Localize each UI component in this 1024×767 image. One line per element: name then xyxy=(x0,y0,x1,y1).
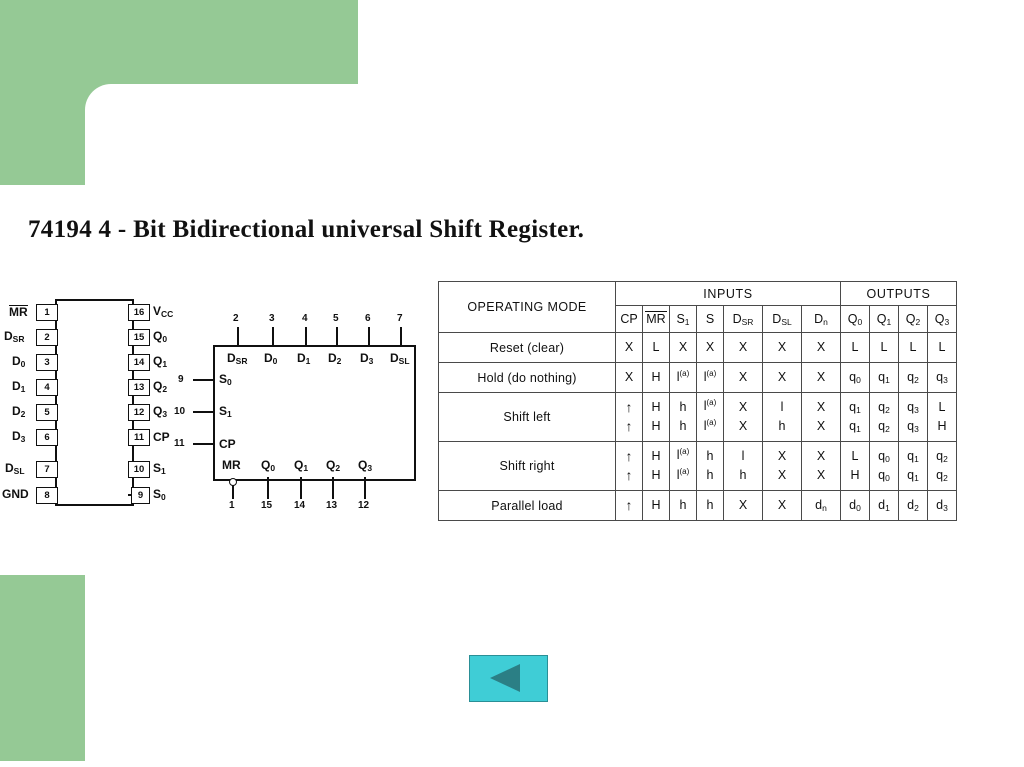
column-header-q2: Q2 xyxy=(899,306,928,333)
cell-input-dn: X xyxy=(802,333,841,363)
cell-input-mr: H xyxy=(643,363,670,393)
dip-pin-label-6: D3 xyxy=(12,430,25,444)
column-header-q0: Q0 xyxy=(841,306,870,333)
dip-pin-number-7: 7 xyxy=(36,461,58,478)
cell-input-dn: XX xyxy=(802,442,841,491)
cell-input-s: X xyxy=(697,333,724,363)
column-header-q1: Q1 xyxy=(870,306,899,333)
dip-pin-number-10: 10 xyxy=(128,461,150,478)
cell-input-mr: H xyxy=(643,491,670,521)
cell-operating-mode: Hold (do nothing) xyxy=(439,363,616,393)
sym-pin-number-4: 4 xyxy=(302,313,308,324)
cell-input-cp: ↑↑ xyxy=(616,393,643,442)
dip-pin-label-13: Q2 xyxy=(153,380,167,394)
cell-output-q2: q1q1 xyxy=(899,442,928,491)
dip-pin-number-8: 8 xyxy=(36,487,58,504)
sym-lead-11 xyxy=(193,443,214,445)
sym-pin-label-s1: S1 xyxy=(219,405,232,419)
sym-pin-label-d2: D2 xyxy=(328,352,341,366)
dip-pin-number-14: 14 xyxy=(128,354,150,371)
sym-pin-label-mr: MR xyxy=(222,459,241,471)
cell-output-q3: LH xyxy=(928,393,957,442)
cell-input-s: l(a)l(a) xyxy=(697,393,724,442)
cell-output-q2: q2 xyxy=(899,363,928,393)
sym-lead-13 xyxy=(332,477,334,499)
dip-pin-number-2: 2 xyxy=(36,329,58,346)
dip-pin-number-9: 9 xyxy=(131,487,150,504)
sym-pin-number-11: 11 xyxy=(174,438,185,449)
dip-pin-number-11: 11 xyxy=(128,429,150,446)
group-header-outputs: OUTPUTS xyxy=(841,282,957,306)
sym-lead-14 xyxy=(300,477,302,499)
cell-input-dsr: X xyxy=(724,363,763,393)
cell-input-s1: X xyxy=(670,333,697,363)
dip-pin-label-10: S1 xyxy=(153,462,166,476)
cell-input-dsl: lh xyxy=(763,393,802,442)
dip-pin-label-9: S0 xyxy=(153,488,166,502)
sym-pin-label-q3: Q3 xyxy=(358,459,372,473)
decor-green-rounded-corner xyxy=(85,84,111,110)
cell-input-s1: l(a)l(a) xyxy=(670,442,697,491)
dip-pin-number-12: 12 xyxy=(128,404,150,421)
cell-output-q0: q1q1 xyxy=(841,393,870,442)
cell-input-mr: HH xyxy=(643,442,670,491)
sym-lead-1 xyxy=(232,485,234,499)
table-header: OPERATING MODE INPUTS OUTPUTS CP MR S1 S… xyxy=(439,282,957,333)
column-header-dn: Dn xyxy=(802,306,841,333)
table-row: Reset (clear)XLXXXXXLLLL xyxy=(439,333,957,363)
sym-pin-number-1: 1 xyxy=(229,500,235,511)
triangle-left-icon xyxy=(490,664,520,692)
sym-lead-6 xyxy=(368,327,370,346)
cell-output-q2: d2 xyxy=(899,491,928,521)
sym-pin-number-13: 13 xyxy=(326,500,337,511)
cell-input-s: hh xyxy=(697,442,724,491)
sym-pin-label-q0: Q0 xyxy=(261,459,275,473)
dip-pin-number-1: 1 xyxy=(36,304,58,321)
sym-lead-7 xyxy=(400,327,402,346)
sym-pin-label-q1: Q1 xyxy=(294,459,308,473)
cell-output-q0: LH xyxy=(841,442,870,491)
dip-pin-number-4: 4 xyxy=(36,379,58,396)
sym-pin-number-9: 9 xyxy=(178,374,184,385)
column-header-mr: MR xyxy=(643,306,670,333)
sym-pin-label-dsr: DSR xyxy=(227,352,247,366)
cell-operating-mode: Reset (clear) xyxy=(439,333,616,363)
column-header-q3: Q3 xyxy=(928,306,957,333)
column-header-cp: CP xyxy=(616,306,643,333)
cell-output-q1: q0q0 xyxy=(870,442,899,491)
dip-pin-label-11: CP xyxy=(153,431,170,443)
cell-output-q2: L xyxy=(899,333,928,363)
sym-pin-number-6: 6 xyxy=(365,313,371,324)
cell-output-q1: q2q2 xyxy=(870,393,899,442)
sym-pin-label-d1: D1 xyxy=(297,352,310,366)
sym-lead-9 xyxy=(193,379,214,381)
cell-operating-mode: Shift left xyxy=(439,393,616,442)
cell-input-cp: ↑ xyxy=(616,491,643,521)
sym-lead-3 xyxy=(272,327,274,346)
sym-pin-number-3: 3 xyxy=(269,313,275,324)
dip-pin-label-12: Q3 xyxy=(153,405,167,419)
dip-pin-number-6: 6 xyxy=(36,429,58,446)
sym-pin-label-dsl: DSL xyxy=(390,352,410,366)
sym-pin-number-15: 15 xyxy=(261,500,272,511)
cell-operating-mode: Parallel load xyxy=(439,491,616,521)
cell-input-s1: l(a) xyxy=(670,363,697,393)
sym-lead-2 xyxy=(237,327,239,346)
cell-input-s1: hh xyxy=(670,393,697,442)
back-navigation-button[interactable] xyxy=(469,655,548,702)
cell-input-mr: HH xyxy=(643,393,670,442)
sym-pin-number-2: 2 xyxy=(233,313,239,324)
sym-lead-15 xyxy=(267,477,269,499)
sym-pin-label-d3: D3 xyxy=(360,352,373,366)
sym-pin-number-12: 12 xyxy=(358,500,369,511)
cell-output-q3: q2q2 xyxy=(928,442,957,491)
cell-input-dsl: X xyxy=(763,491,802,521)
cell-input-dsr: X xyxy=(724,491,763,521)
dip-pin-label-16: VCC xyxy=(153,305,173,319)
dip-pin-number-5: 5 xyxy=(36,404,58,421)
dip-pin-number-13: 13 xyxy=(128,379,150,396)
dip-pin-label-8: GND xyxy=(2,488,29,500)
cell-output-q3: L xyxy=(928,333,957,363)
sym-pin-number-5: 5 xyxy=(333,313,339,324)
group-header-inputs: INPUTS xyxy=(616,282,841,306)
cell-output-q1: q1 xyxy=(870,363,899,393)
cell-output-q0: q0 xyxy=(841,363,870,393)
cell-output-q3: d3 xyxy=(928,491,957,521)
table-row: Hold (do nothing)XHl(a)l(a)XXXq0q1q2q3 xyxy=(439,363,957,393)
decor-green-left-bar xyxy=(0,84,85,185)
cell-output-q0: d0 xyxy=(841,491,870,521)
cell-output-q0: L xyxy=(841,333,870,363)
column-header-dsl: DSL xyxy=(763,306,802,333)
cell-input-dsl: X xyxy=(763,333,802,363)
table-row: Shift right↑↑HHl(a)l(a)hhlhXXXXLHq0q0q1q… xyxy=(439,442,957,491)
sym-pin-number-10: 10 xyxy=(174,406,185,417)
sym-lead-4 xyxy=(305,327,307,346)
cell-input-cp: ↑↑ xyxy=(616,442,643,491)
sym-pin-label-s0: S0 xyxy=(219,373,232,387)
dip-body-outline xyxy=(55,299,134,506)
function-truth-table: OPERATING MODE INPUTS OUTPUTS CP MR S1 S… xyxy=(438,281,957,521)
table-group-header-row: OPERATING MODE INPUTS OUTPUTS xyxy=(439,282,957,306)
page-title: 74194 4 - Bit Bidirectional universal Sh… xyxy=(28,216,584,244)
cell-input-s: l(a) xyxy=(697,363,724,393)
sym-pin-number-14: 14 xyxy=(294,500,305,511)
dip-pin-number-16: 16 xyxy=(128,304,150,321)
table-body: Reset (clear)XLXXXXXLLLLHold (do nothing… xyxy=(439,333,957,521)
column-header-dsr: DSR xyxy=(724,306,763,333)
cell-output-q1: d1 xyxy=(870,491,899,521)
sym-lead-10 xyxy=(193,411,214,413)
cell-input-s1: h xyxy=(670,491,697,521)
sym-pin-label-cp: CP xyxy=(219,438,236,450)
dip-pin-label-3: D0 xyxy=(12,355,25,369)
cell-input-dsr: XX xyxy=(724,393,763,442)
cell-input-cp: X xyxy=(616,363,643,393)
dip-pin-label-1: MR xyxy=(9,305,28,319)
cell-input-dsl: XX xyxy=(763,442,802,491)
column-header-operating-mode: OPERATING MODE xyxy=(439,282,616,333)
cell-input-cp: X xyxy=(616,333,643,363)
dip-pin-label-14: Q1 xyxy=(153,355,167,369)
cell-operating-mode: Shift right xyxy=(439,442,616,491)
cell-input-dsr: X xyxy=(724,333,763,363)
dip-pin-label-2: DSR xyxy=(4,330,24,344)
dip-pin-label-4: D1 xyxy=(12,380,25,394)
dip-pin-number-3: 3 xyxy=(36,354,58,371)
slide-canvas: 74194 4 - Bit Bidirectional universal Sh… xyxy=(0,0,1024,767)
cell-input-dn: X xyxy=(802,363,841,393)
cell-input-dn: dn xyxy=(802,491,841,521)
cell-input-dsl: X xyxy=(763,363,802,393)
cell-input-s: h xyxy=(697,491,724,521)
dip-pin-label-15: Q0 xyxy=(153,330,167,344)
sym-pin-label-d0: D0 xyxy=(264,352,277,366)
cell-output-q2: q3q3 xyxy=(899,393,928,442)
sym-pin-label-q2: Q2 xyxy=(326,459,340,473)
table-row: Shift left↑↑HHhhl(a)l(a)XXlhXXq1q1q2q2q3… xyxy=(439,393,957,442)
dip-pin-label-5: D2 xyxy=(12,405,25,419)
cell-output-q1: L xyxy=(870,333,899,363)
column-header-s1: S1 xyxy=(670,306,697,333)
dip-pin-number-15: 15 xyxy=(128,329,150,346)
cell-output-q3: q3 xyxy=(928,363,957,393)
cell-input-dn: XX xyxy=(802,393,841,442)
dip-pin-label-7: DSL xyxy=(5,462,25,476)
sym-lead-12 xyxy=(364,477,366,499)
cell-input-mr: L xyxy=(643,333,670,363)
column-header-s: S xyxy=(697,306,724,333)
cell-input-dsr: lh xyxy=(724,442,763,491)
sym-lead-5 xyxy=(336,327,338,346)
sym-pin-number-7: 7 xyxy=(397,313,403,324)
decor-green-bottom-block xyxy=(0,575,85,761)
table-row: Parallel load↑HhhXXdnd0d1d2d3 xyxy=(439,491,957,521)
decor-green-top-bar xyxy=(0,0,358,84)
